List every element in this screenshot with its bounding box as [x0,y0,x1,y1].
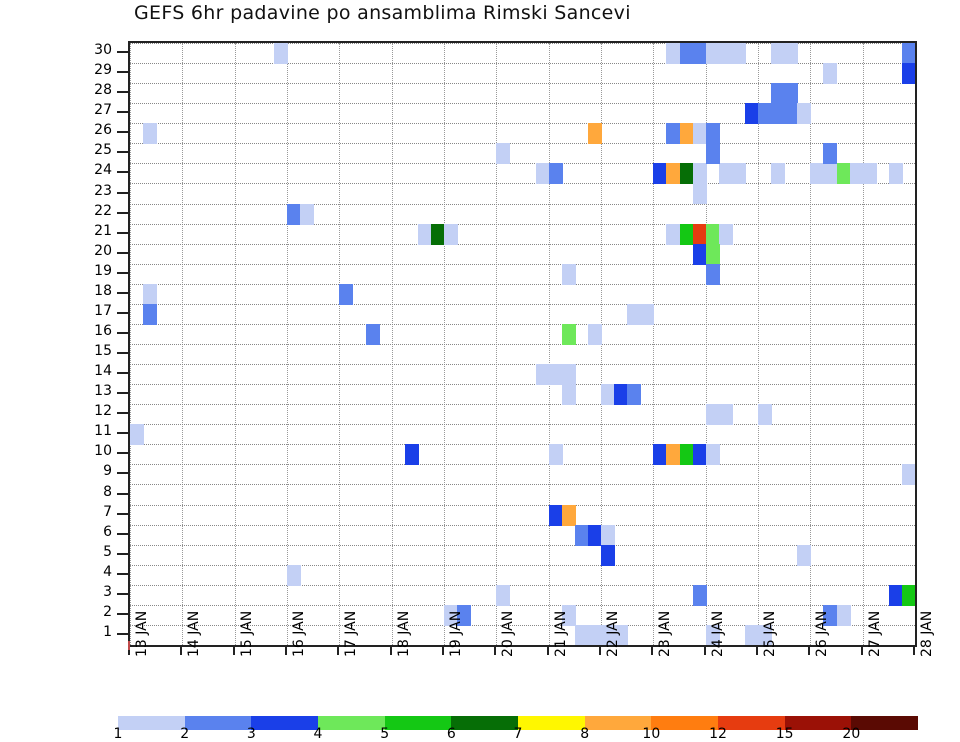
horizontal-gridline [130,183,915,184]
heatmap-cell [797,545,811,566]
heatmap-cell [536,163,550,184]
heatmap-cell [693,244,707,265]
heatmap-cell [706,404,720,425]
heatmap-cell [889,163,903,184]
y-tick-mark [117,111,128,113]
y-tick-label: 1 [80,626,112,638]
heatmap-cell [130,424,144,445]
heatmap-cell [902,464,915,485]
heatmap-cell [902,43,915,64]
heatmap-cell [536,364,550,385]
y-tick-mark [117,432,128,434]
heatmap-cell [562,324,576,345]
heatmap-cell [693,163,707,184]
heatmap-cell [837,605,851,626]
heatmap-cell [693,444,707,465]
heatmap-cell [810,163,824,184]
heatmap-cell [601,384,615,405]
horizontal-gridline [130,444,915,445]
heatmap-cell [706,43,720,64]
heatmap-cell [143,284,157,305]
x-tick-label: 25 JAN [762,611,778,657]
y-tick-mark [117,372,128,374]
y-tick-mark [117,513,128,515]
heatmap-cell [719,43,733,64]
heatmap-cell [575,525,589,546]
heatmap-cell [745,625,759,645]
heatmap-cell [666,224,680,245]
colorbar-tick-label: 7 [514,726,523,742]
heatmap-cell [562,505,576,526]
horizontal-gridline [130,404,915,405]
heatmap-cell [640,304,654,325]
horizontal-gridline [130,424,915,425]
y-tick-mark [117,332,128,334]
horizontal-gridline [130,464,915,465]
heatmap-cell [666,123,680,144]
y-tick-label: 28 [80,84,112,96]
heatmap-cell [339,284,353,305]
heatmap-cell [444,224,458,245]
horizontal-gridline [130,525,915,526]
heatmap-cell [850,163,864,184]
x-tick-mark [861,645,863,655]
heatmap-cell [771,43,785,64]
y-tick-label: 20 [80,245,112,257]
heatmap-cell [143,304,157,325]
heatmap-cell [562,264,576,285]
heatmap-cell [693,183,707,204]
heatmap-cell [706,444,720,465]
heatmap-cell [588,525,602,546]
heatmap-cell [745,103,759,124]
x-tick-mark [704,645,706,655]
y-tick-mark [117,633,128,635]
x-tick-mark [756,645,758,655]
y-tick-label: 5 [80,546,112,558]
horizontal-gridline [130,264,915,265]
heatmap-cell [823,63,837,84]
heatmap-cell [431,224,445,245]
y-tick-label: 8 [80,486,112,498]
y-tick-mark [117,412,128,414]
x-tick-mark [390,645,392,655]
y-tick-mark [117,212,128,214]
x-tick-label: 24 JAN [710,611,726,657]
heatmap-cell [287,565,301,586]
x-tick-label: 13 JAN [134,611,150,657]
y-tick-mark [117,91,128,93]
heatmap-cell [680,224,694,245]
heatmap-cell [680,123,694,144]
y-tick-label: 17 [80,305,112,317]
heatmap-cell [562,364,576,385]
y-tick-label: 30 [80,44,112,56]
horizontal-gridline [130,344,915,345]
heatmap-cell [771,103,785,124]
colorbar-tick-label: 12 [709,726,727,742]
heatmap-cell [405,444,419,465]
y-tick-mark [117,452,128,454]
colorbar-tick-label: 8 [580,726,589,742]
horizontal-gridline [130,143,915,144]
colorbar-tick-label: 15 [776,726,794,742]
x-tick-mark [547,645,549,655]
x-tick-label: 23 JAN [657,611,673,657]
y-tick-label: 7 [80,506,112,518]
heatmap-cell [653,444,667,465]
heatmap-cell [706,143,720,164]
horizontal-gridline [130,224,915,225]
y-tick-label: 15 [80,345,112,357]
heatmap-cell [732,163,746,184]
heatmap-cell [758,103,772,124]
heatmap-cell [653,163,667,184]
horizontal-gridline [130,505,915,506]
y-tick-mark [117,533,128,535]
y-tick-mark [117,352,128,354]
heatmap-cell [889,585,903,606]
y-tick-label: 26 [80,124,112,136]
horizontal-gridline [130,585,915,586]
heatmap-cell [496,585,510,606]
y-tick-label: 18 [80,285,112,297]
horizontal-gridline [130,244,915,245]
x-tick-label: 17 JAN [343,611,359,657]
colorbar-tick-label: 3 [247,726,256,742]
horizontal-gridline [130,324,915,325]
colorbar-tick-label: 5 [380,726,389,742]
heatmap-cell [863,163,877,184]
heatmap-cell [666,444,680,465]
x-tick-mark [233,645,235,655]
y-tick-label: 11 [80,425,112,437]
x-tick-mark [337,645,339,655]
heatmap-cell [274,43,288,64]
x-tick-mark [913,645,915,655]
origin-marker [128,641,130,650]
heatmap-cell [706,264,720,285]
x-tick-mark [494,645,496,655]
heatmap-cell [588,625,602,645]
x-tick-mark [599,645,601,655]
horizontal-gridline [130,484,915,485]
heatmap-cell [837,163,851,184]
x-tick-label: 21 JAN [553,611,569,657]
heatmap-cell [366,324,380,345]
page-title: GEFS 6hr padavine po ansamblima Rimski S… [0,2,960,24]
colorbar-tick-label: 10 [642,726,660,742]
heatmap-cell [680,163,694,184]
y-tick-label: 27 [80,104,112,116]
heatmap-cell [418,224,432,245]
y-tick-label: 23 [80,185,112,197]
colorbar-labels: 1234567810121520 [118,726,918,742]
y-tick-label: 29 [80,64,112,76]
horizontal-gridline [130,384,915,385]
plot-inner [130,43,915,645]
heatmap-cell [706,244,720,265]
heatmap-cell [549,364,563,385]
y-tick-label: 24 [80,164,112,176]
y-tick-mark [117,51,128,53]
heatmap-cell [719,404,733,425]
heatmap-cell [680,444,694,465]
heatmap-cell [627,384,641,405]
y-tick-label: 22 [80,205,112,217]
x-tick-mark [651,645,653,655]
heatmap-cell [549,505,563,526]
heatmap-cell [287,204,301,225]
horizontal-gridline [130,163,915,164]
colorbar-tick-label: 2 [180,726,189,742]
horizontal-gridline [130,204,915,205]
y-tick-mark [117,192,128,194]
x-tick-mark [442,645,444,655]
y-tick-label: 25 [80,144,112,156]
y-tick-label: 21 [80,225,112,237]
heatmap-cell [601,525,615,546]
y-tick-label: 12 [80,405,112,417]
y-tick-mark [117,252,128,254]
colorbar-tick-label: 20 [842,726,860,742]
precipitation-ensemble-chart: GEFS 6hr padavine po ansamblima Rimski S… [0,0,960,742]
heatmap-cell [823,163,837,184]
heatmap-cell [784,83,798,104]
x-tick-label: 16 JAN [291,611,307,657]
heatmap-cell [771,83,785,104]
heatmap-cell [902,585,915,606]
heatmap-cell [784,103,798,124]
x-tick-label: 19 JAN [448,611,464,657]
y-tick-label: 6 [80,526,112,538]
y-tick-label: 4 [80,566,112,578]
x-tick-label: 20 JAN [500,611,516,657]
heatmap-cell [693,43,707,64]
y-tick-mark [117,472,128,474]
y-tick-mark [117,553,128,555]
x-tick-label: 14 JAN [186,611,202,657]
y-tick-mark [117,593,128,595]
heatmap-cell [902,63,915,84]
y-tick-mark [117,312,128,314]
colorbar-tick-label: 1 [114,726,123,742]
heatmap-cell [758,404,772,425]
x-tick-label: 27 JAN [867,611,883,657]
heatmap-cell [575,625,589,645]
heatmap-cell [693,123,707,144]
y-tick-mark [117,272,128,274]
y-tick-mark [117,232,128,234]
y-tick-label: 10 [80,445,112,457]
heatmap-cell [732,43,746,64]
y-tick-label: 9 [80,465,112,477]
heatmap-cell [823,143,837,164]
x-tick-mark [180,645,182,655]
y-tick-label: 2 [80,606,112,618]
y-tick-mark [117,292,128,294]
plot-area [128,41,917,647]
y-tick-mark [117,613,128,615]
horizontal-gridline [130,304,915,305]
horizontal-gridline [130,284,915,285]
y-tick-label: 3 [80,586,112,598]
heatmap-cell [549,444,563,465]
y-tick-label: 16 [80,325,112,337]
y-tick-label: 14 [80,365,112,377]
y-tick-mark [117,392,128,394]
y-tick-mark [117,573,128,575]
y-tick-mark [117,171,128,173]
horizontal-gridline [130,364,915,365]
heatmap-cell [693,585,707,606]
heatmap-cell [143,123,157,144]
y-tick-mark [117,131,128,133]
x-tick-label: 28 JAN [919,611,935,657]
heatmap-cell [784,43,798,64]
heatmap-cell [562,384,576,405]
heatmap-cell [549,163,563,184]
heatmap-cell [666,43,680,64]
x-tick-mark [808,645,810,655]
horizontal-gridline [130,605,915,606]
x-tick-label: 26 JAN [814,611,830,657]
heatmap-cell [666,163,680,184]
heatmap-cell [300,204,314,225]
heatmap-cell [601,545,615,566]
heatmap-cell [496,143,510,164]
x-tick-label: 15 JAN [239,611,255,657]
colorbar-tick-label: 4 [314,726,323,742]
heatmap-cell [614,384,628,405]
y-tick-mark [117,71,128,73]
heatmap-cell [771,163,785,184]
heatmap-cell [719,224,733,245]
heatmap-cell [706,224,720,245]
x-tick-mark [285,645,287,655]
heatmap-cell [797,103,811,124]
y-tick-label: 13 [80,385,112,397]
heatmap-cell [627,304,641,325]
heatmap-cell [693,224,707,245]
y-tick-label: 19 [80,265,112,277]
y-tick-mark [117,151,128,153]
y-tick-mark [117,493,128,495]
heatmap-cell [680,43,694,64]
heatmap-cell [588,123,602,144]
heatmap-cell [588,324,602,345]
colorbar-tick-label: 6 [447,726,456,742]
x-tick-label: 18 JAN [396,611,412,657]
x-tick-label: 22 JAN [605,611,621,657]
heatmap-cell [719,163,733,184]
heatmap-cell [706,123,720,144]
